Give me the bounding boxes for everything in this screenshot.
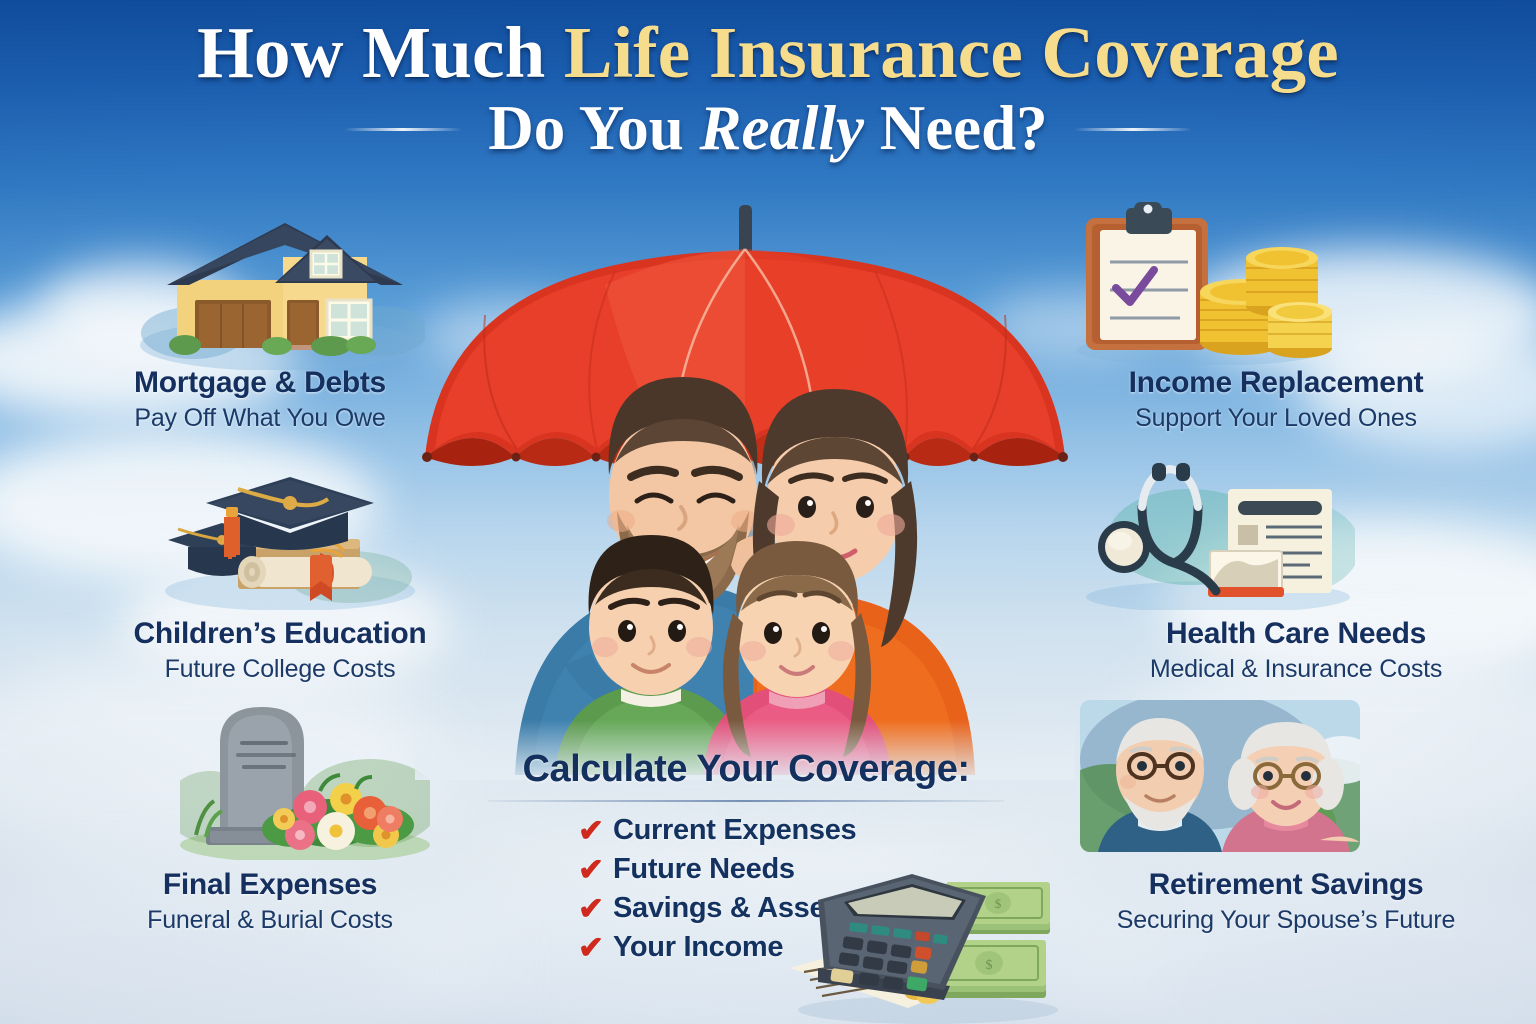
feature-subtitle: Future College Costs	[0, 655, 560, 684]
feature-subtitle: Support Your Loved Ones	[1016, 404, 1536, 433]
feature-mortgage-debts: Mortgage & Debts Pay Off What You Owe	[0, 366, 520, 433]
checklist-label: Current Expenses	[613, 814, 856, 847]
poster-title: How Much Life Insurance Coverage Do You …	[0, 16, 1536, 162]
checklist-label: Your Income	[613, 931, 783, 964]
stethoscope-documents-icon	[1080, 455, 1355, 610]
feature-subtitle: Medical & Insurance Costs	[1016, 655, 1536, 684]
check-icon: ✔	[578, 815, 604, 846]
title-line-2-a: Do You	[488, 93, 699, 163]
family-of-four-illustration	[415, 195, 1075, 775]
feature-retirement-savings: Retirement Savings Securing Your Spouse’…	[1006, 868, 1536, 935]
elderly-couple-icon	[1080, 700, 1360, 860]
title-line-1: How Much Life Insurance Coverage	[0, 16, 1536, 90]
title-rule-right	[1074, 128, 1192, 131]
checklist-label: Future Needs	[613, 853, 795, 886]
svg-text:$: $	[995, 896, 1002, 911]
check-icon: ✔	[578, 854, 604, 885]
feature-income-replacement: Income Replacement Support Your Loved On…	[1016, 366, 1536, 433]
calculator-money-icon: $ $	[788, 848, 1058, 1024]
tombstone-flowers-icon	[180, 695, 430, 860]
feature-childrens-education: Children’s Education Future College Cost…	[0, 617, 560, 684]
infographic-poster: How Much Life Insurance Coverage Do You …	[0, 0, 1536, 1024]
calculate-divider	[488, 800, 1004, 802]
feature-heading: Mortgage & Debts	[0, 366, 520, 400]
feature-heading: Children’s Education	[0, 617, 560, 651]
title-line-2: Do You Really Need?	[488, 96, 1047, 162]
title-line-2-b: Need?	[864, 93, 1048, 163]
checklist-item: ✔ Current Expenses	[578, 814, 1006, 847]
feature-heading: Final Expenses	[0, 868, 540, 902]
feature-subtitle: Securing Your Spouse’s Future	[1006, 906, 1536, 935]
svg-text:$: $	[986, 958, 993, 973]
feature-heading: Income Replacement	[1016, 366, 1536, 400]
title-line-2-italic: Really	[700, 93, 864, 163]
title-line-1-white: How Much	[197, 12, 564, 93]
feature-subtitle: Pay Off What You Owe	[0, 404, 520, 433]
calculate-heading: Calculate Your Coverage:	[486, 748, 1006, 791]
clipboard-coins-icon	[1070, 200, 1335, 365]
feature-final-expenses: Final Expenses Funeral & Burial Costs	[0, 868, 540, 935]
title-line-1-gold: Life Insurance Coverage	[564, 12, 1339, 93]
check-icon: ✔	[578, 893, 604, 924]
feature-subtitle: Funeral & Burial Costs	[0, 906, 540, 935]
graduation-cap-icon	[160, 465, 420, 610]
feature-heading: Retirement Savings	[1006, 868, 1536, 902]
feature-health-care-needs: Health Care Needs Medical & Insurance Co…	[1016, 617, 1536, 684]
house-icon	[135, 205, 425, 370]
title-rule-left	[344, 128, 462, 131]
feature-heading: Health Care Needs	[1016, 617, 1536, 651]
check-icon: ✔	[578, 932, 604, 963]
